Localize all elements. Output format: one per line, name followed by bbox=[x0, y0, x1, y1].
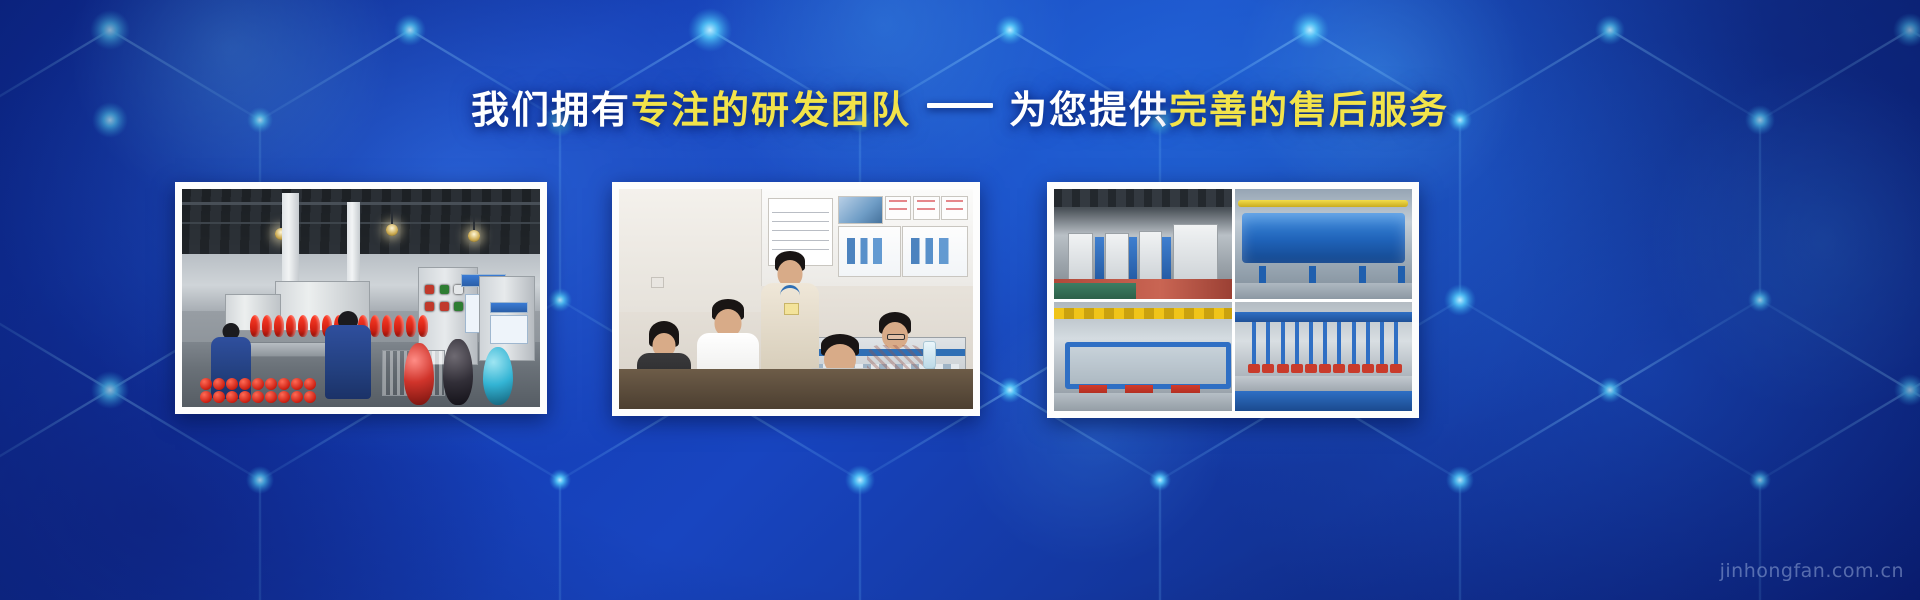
headline-segment-4: 为您提供 bbox=[1009, 87, 1169, 133]
photo-production-line[interactable] bbox=[175, 182, 547, 414]
banner-headline: 我们拥有专注的研发团队为您提供完善的售后服务 bbox=[0, 84, 1920, 133]
headline-segment-5: 完善的售后服务 bbox=[1169, 87, 1449, 133]
photo-rd-team-meeting-image bbox=[619, 189, 973, 409]
headline-dash-separator bbox=[927, 103, 993, 108]
photo-equipment-collage[interactable] bbox=[1047, 182, 1419, 418]
site-watermark: jinhongfan.com.cn bbox=[1720, 560, 1904, 582]
photo-rd-team-meeting[interactable] bbox=[612, 182, 980, 416]
photo-row bbox=[0, 182, 1920, 414]
photo-production-line-image bbox=[182, 189, 540, 407]
photo-equipment-collage-image bbox=[1054, 189, 1412, 411]
promo-banner: 我们拥有专注的研发团队为您提供完善的售后服务 bbox=[0, 0, 1920, 600]
headline-segment-2: 专注的研发团队 bbox=[631, 87, 911, 133]
headline-segment-1: 我们拥有 bbox=[471, 87, 631, 133]
